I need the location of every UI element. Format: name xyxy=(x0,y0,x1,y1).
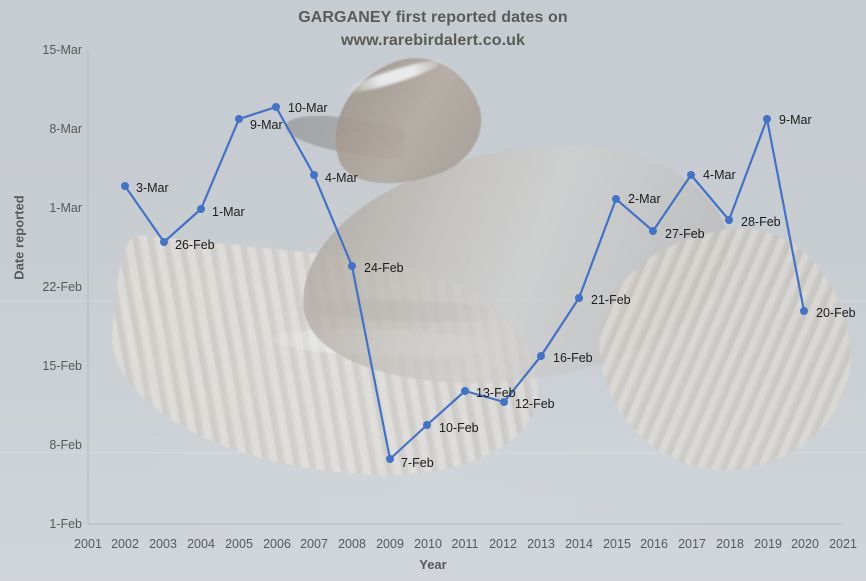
data-point-value-label: 21-Feb xyxy=(591,293,631,307)
data-point-marker[interactable] xyxy=(121,182,129,190)
data-point-marker[interactable] xyxy=(725,216,733,224)
data-point-value-label: 4-Mar xyxy=(703,168,736,182)
data-point-value-label: 10-Mar xyxy=(288,101,328,115)
data-point-value-label: 13-Feb xyxy=(476,386,516,400)
data-point-marker[interactable] xyxy=(348,262,356,270)
data-point-value-label: 16-Feb xyxy=(553,351,593,365)
data-point-value-label: 2-Mar xyxy=(628,192,661,206)
y-axis-tick-label: 15-Feb xyxy=(12,359,82,373)
data-point-value-label: 7-Feb xyxy=(401,456,434,470)
y-axis-tick-label: 1-Feb xyxy=(12,517,82,531)
data-point-marker[interactable] xyxy=(235,115,243,123)
data-point-value-label: 27-Feb xyxy=(665,227,705,241)
data-point-marker[interactable] xyxy=(575,294,583,302)
data-point-marker[interactable] xyxy=(800,307,808,315)
data-point-marker[interactable] xyxy=(310,171,318,179)
chart-layer: GARGANEY first reported dates on www.rar… xyxy=(0,0,866,581)
data-point-marker[interactable] xyxy=(763,115,771,123)
data-point-value-label: 20-Feb xyxy=(816,306,856,320)
axis-lines xyxy=(88,50,843,524)
y-axis-tick-label: 22-Feb xyxy=(12,280,82,294)
data-point-value-label: 9-Mar xyxy=(779,113,812,127)
chart-container: GARGANEY first reported dates on www.rar… xyxy=(0,0,866,581)
data-point-marker[interactable] xyxy=(649,227,657,235)
data-point-value-label: 12-Feb xyxy=(515,397,555,411)
data-point-value-label: 26-Feb xyxy=(175,238,215,252)
series-line-garganey xyxy=(125,107,804,459)
y-axis-tick-label: 8-Mar xyxy=(12,122,82,136)
data-point-marker[interactable] xyxy=(687,171,695,179)
x-axis-tick-label: 2021 xyxy=(820,537,866,551)
data-point-marker[interactable] xyxy=(461,387,469,395)
data-point-value-label: 10-Feb xyxy=(439,421,479,435)
data-point-marker[interactable] xyxy=(197,205,205,213)
data-point-value-label: 1-Mar xyxy=(212,205,245,219)
data-point-marker[interactable] xyxy=(272,103,280,111)
y-axis-tick-label: 15-Mar xyxy=(12,43,82,57)
plot-svg xyxy=(0,0,866,581)
data-point-marker[interactable] xyxy=(423,421,431,429)
data-point-value-label: 9-Mar xyxy=(250,118,283,132)
data-point-value-label: 3-Mar xyxy=(136,181,169,195)
data-point-marker[interactable] xyxy=(537,352,545,360)
data-point-marker[interactable] xyxy=(160,238,168,246)
y-axis-tick-label: 8-Feb xyxy=(12,438,82,452)
data-point-marker[interactable] xyxy=(386,455,394,463)
data-point-value-label: 28-Feb xyxy=(741,215,781,229)
data-point-value-label: 24-Feb xyxy=(364,261,404,275)
data-point-marker[interactable] xyxy=(612,195,620,203)
data-point-value-label: 4-Mar xyxy=(325,171,358,185)
y-axis-tick-label: 1-Mar xyxy=(12,201,82,215)
